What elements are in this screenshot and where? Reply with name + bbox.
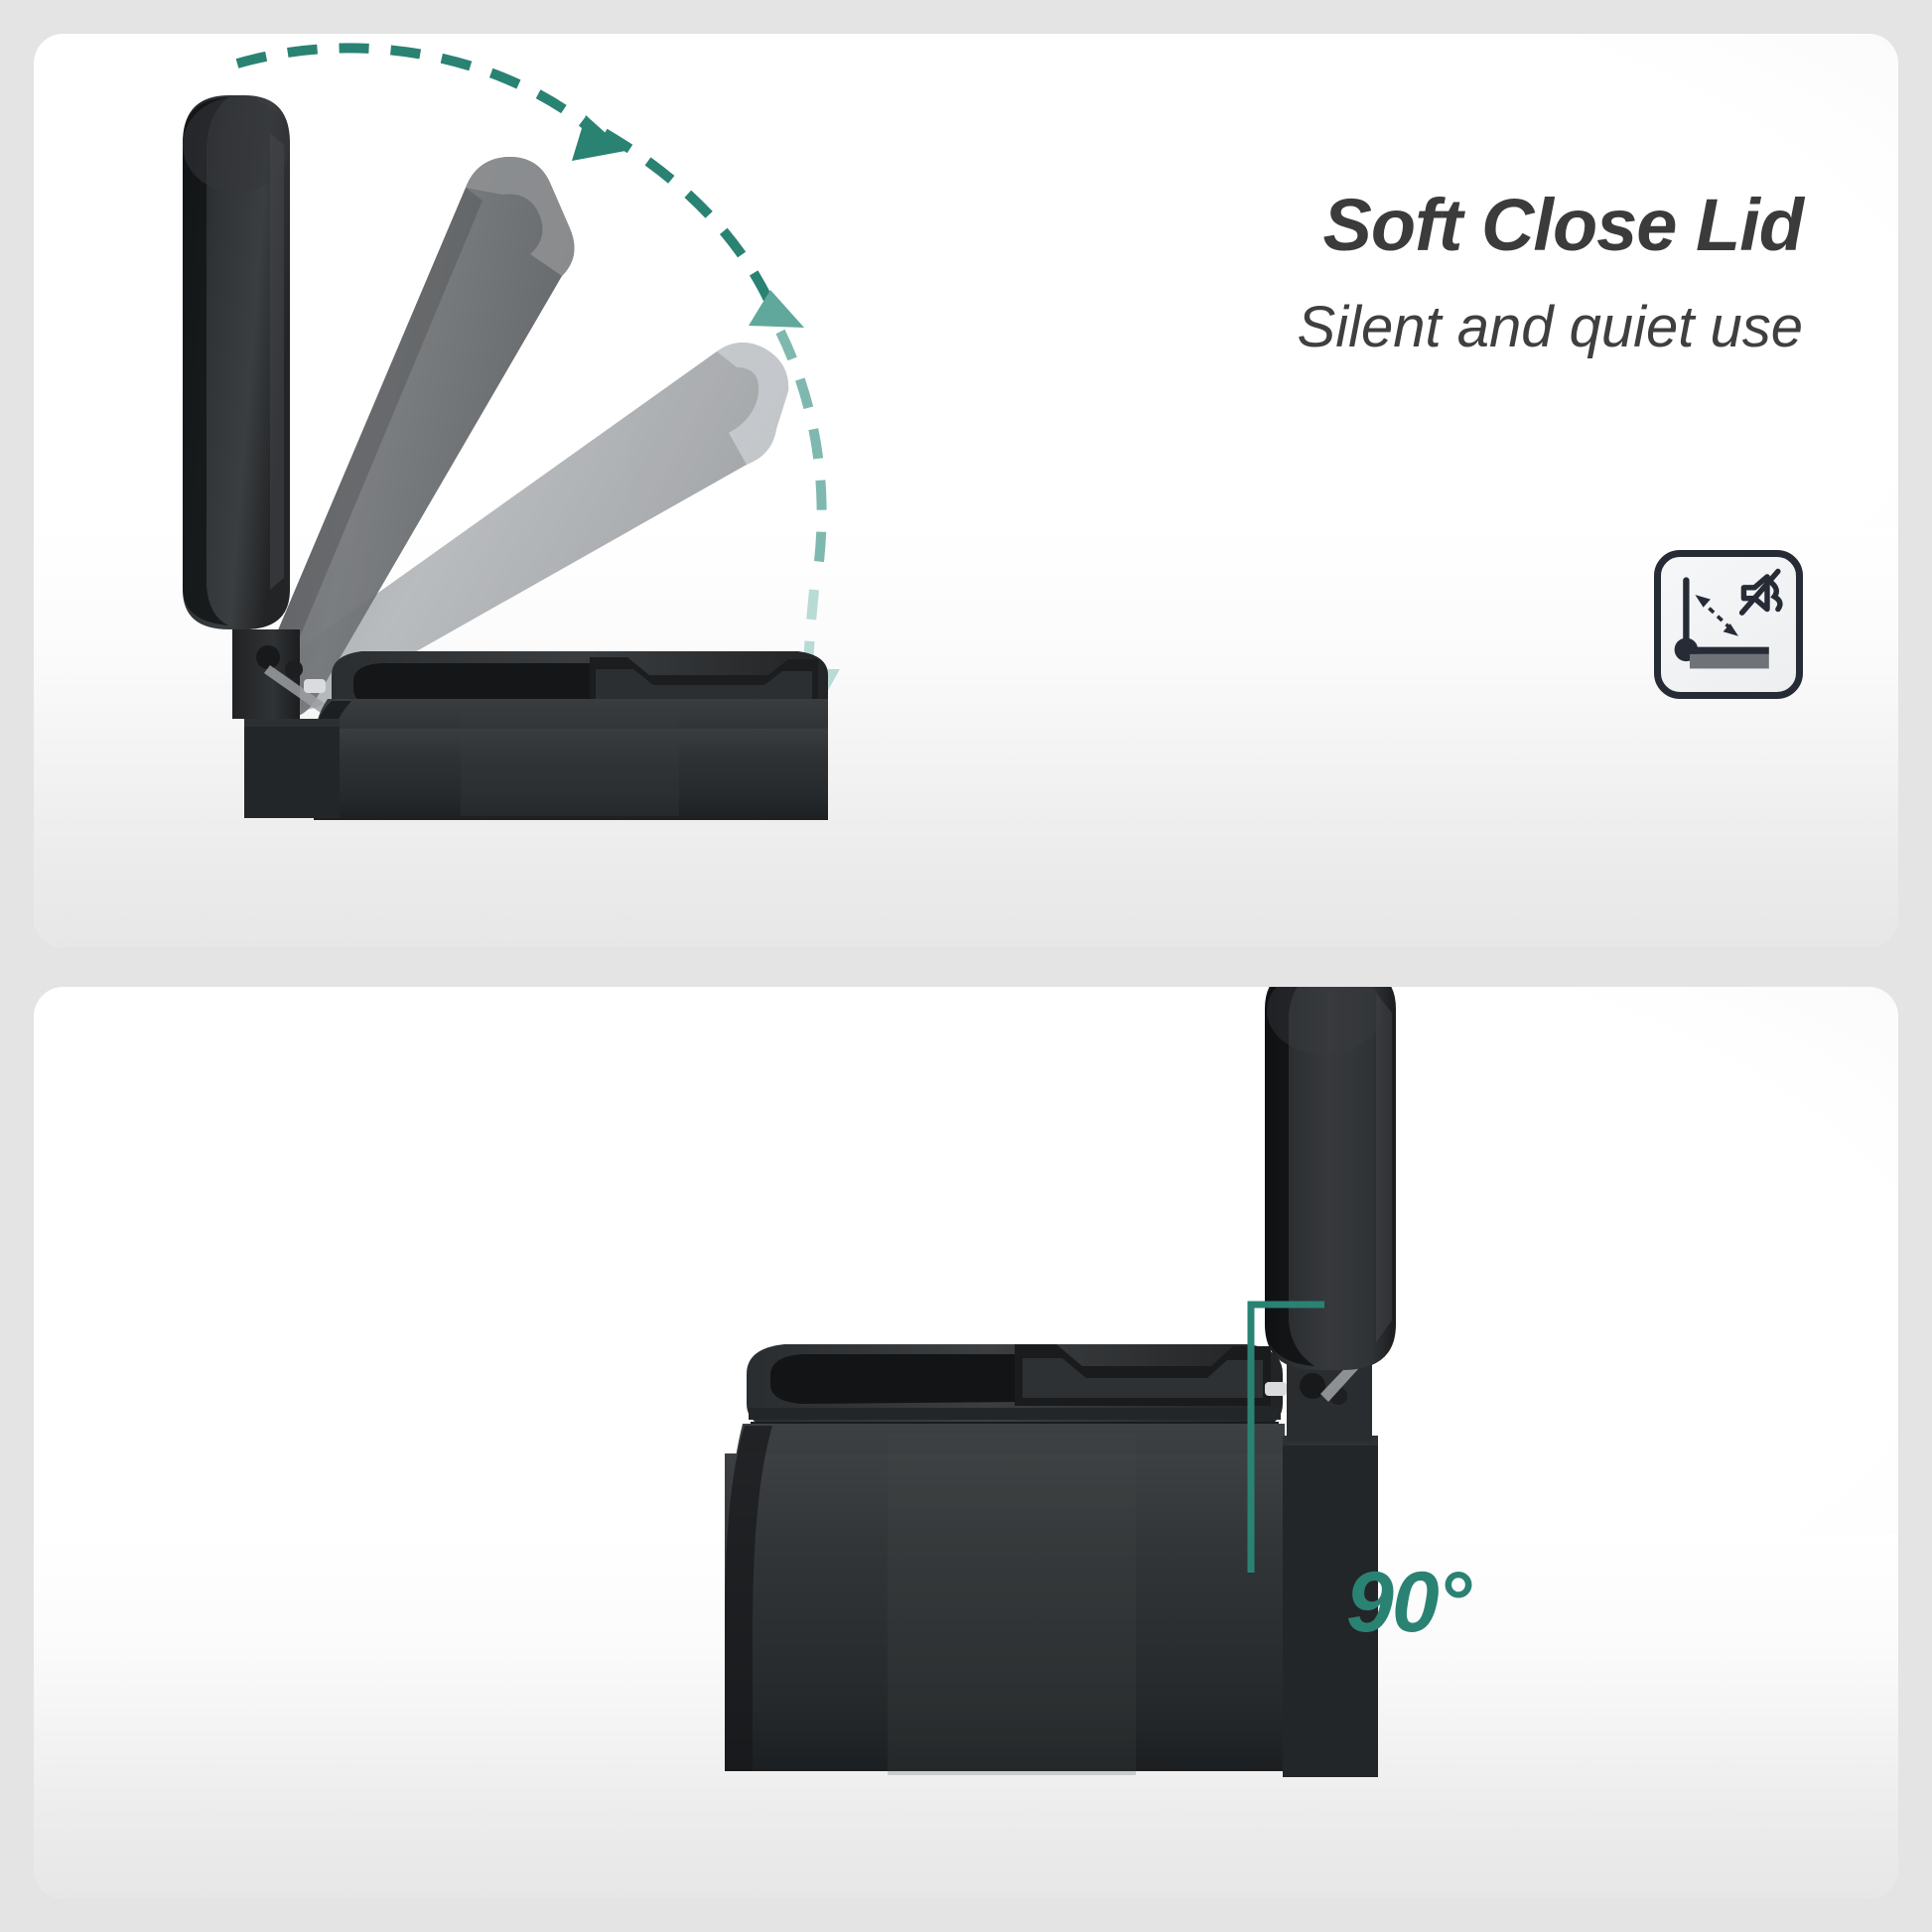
lid-open-solid (183, 95, 290, 629)
panel-top-headline: Soft Close Lid (1323, 183, 1803, 267)
stay-open-illustration (34, 987, 1898, 1898)
bin-body (244, 651, 828, 820)
panel-stay-open-design: Stay Open Design Convenient for doing le… (34, 987, 1898, 1898)
panel-soft-close-lid: Soft Close Lid Silent and quiet use (34, 34, 1898, 947)
soft-close-illustration (34, 34, 1898, 947)
lid-open-vertical (1265, 987, 1396, 1370)
lid-arc-arrow-2 (749, 290, 804, 328)
bin-body (725, 1344, 1285, 1775)
angle-label-90-degrees: 90° (1346, 1554, 1469, 1652)
infographic-canvas: Soft Close Lid Silent and quiet use (0, 0, 1932, 1932)
soft-close-badge (1654, 550, 1803, 699)
mute-speaker-icon (1661, 557, 1796, 692)
panel-top-subline: Silent and quiet use (1298, 294, 1803, 360)
